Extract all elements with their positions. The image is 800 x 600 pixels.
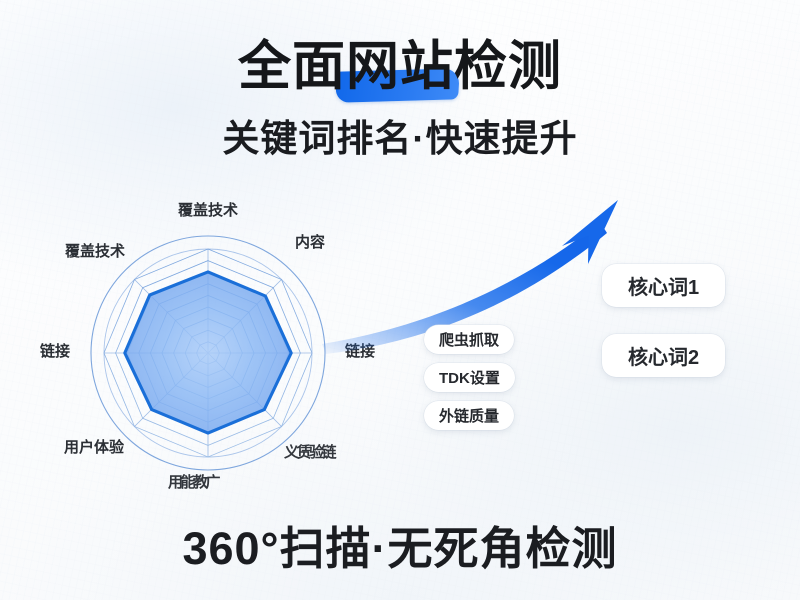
radar-label-bottom-left: 用户体验 [64, 439, 124, 457]
page-subtitle: 关键词排名·快速提升 [222, 115, 577, 163]
subheadline-container: 关键词排名·快速提升 [0, 115, 800, 163]
radar-data-area [125, 272, 291, 433]
radar-label-left: 链接 [40, 343, 70, 361]
radar-label-top: 覆盖技术 [178, 202, 238, 220]
tag-crawler[interactable]: 爬虫抓取 [424, 325, 514, 354]
footline-container: 360°扫描·无死角检测 [0, 521, 800, 577]
keyword-pill-2[interactable]: 核心词2 [602, 334, 725, 377]
page-footline: 360°扫描·无死角检测 [182, 521, 617, 577]
tag-tdk[interactable]: TDK设置 [424, 363, 515, 392]
poster-canvas: 全面网站检测 关键词排名·快速提升 [0, 0, 800, 600]
page-title: 全面网站检测 [238, 36, 562, 98]
headline-container: 全面网站检测 [0, 36, 800, 98]
radar-label-bottom-right: 义赁验链 [284, 444, 334, 462]
radar-label-top-left: 覆盖技术 [65, 243, 125, 261]
keyword-pill-1[interactable]: 核心词1 [602, 264, 725, 307]
radar-label-bottom: 用能教广 [168, 474, 218, 492]
headline-text: 全面网站检测 [238, 37, 562, 96]
tag-backlink[interactable]: 外链质量 [424, 401, 514, 430]
